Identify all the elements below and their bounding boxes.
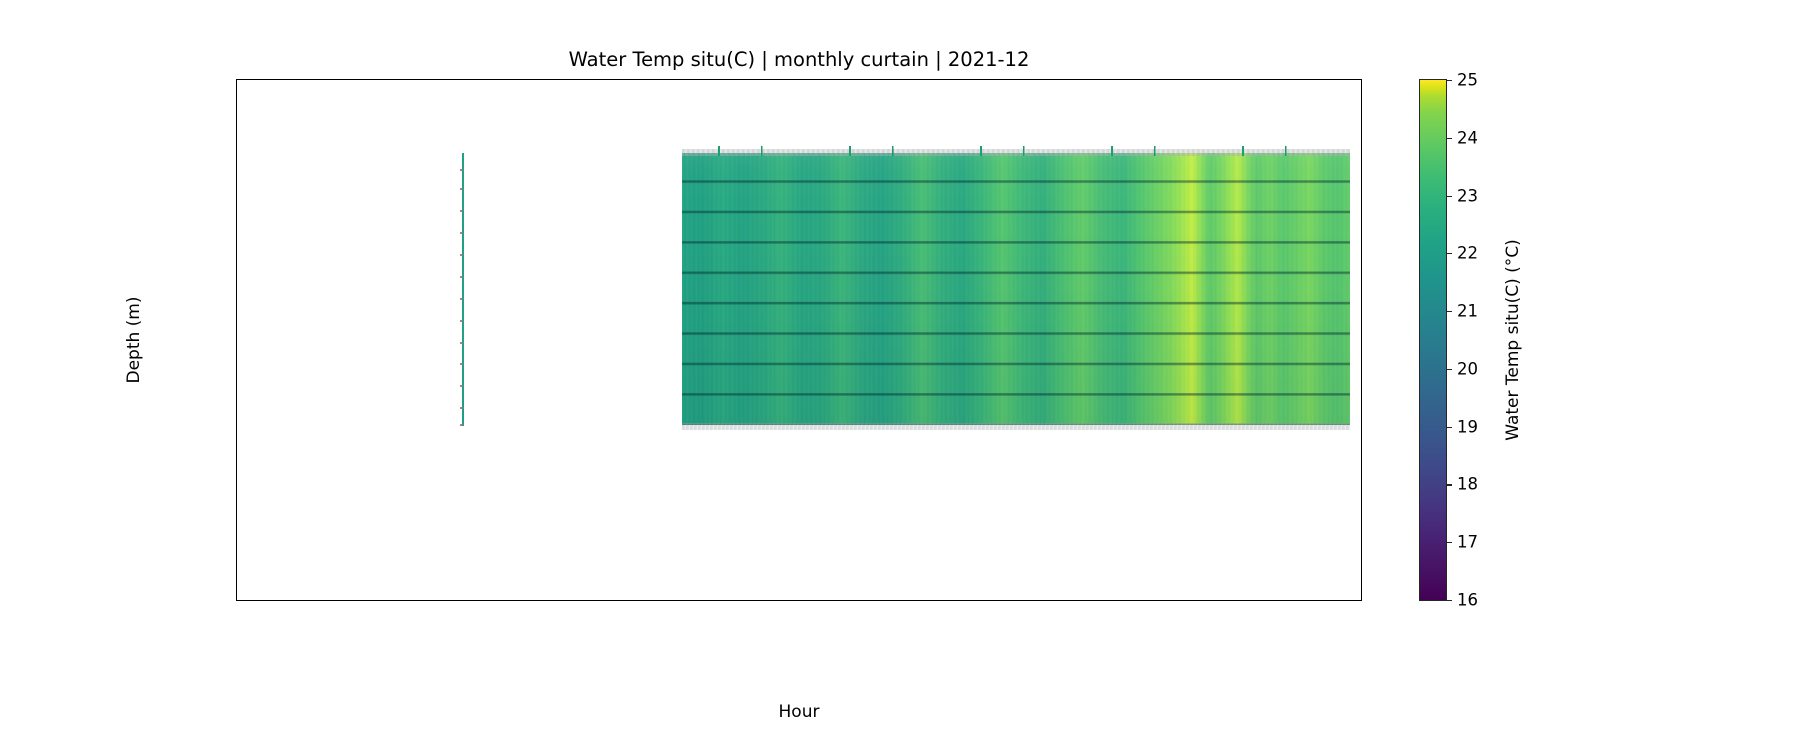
temperature-curtain-block bbox=[682, 153, 1350, 425]
colorbar-tick-label: 18 bbox=[1457, 475, 1478, 494]
page-title: Water Temp situ(C) | monthly curtain | 2… bbox=[236, 48, 1362, 71]
colorbar-tick-label: 21 bbox=[1457, 302, 1478, 321]
sensor-depth-lines bbox=[682, 153, 1350, 425]
surface-spike-marks bbox=[682, 146, 1350, 156]
colorbar-tick-label: 19 bbox=[1457, 417, 1478, 436]
sparse-profile-column bbox=[462, 153, 464, 427]
colorbar-tick-label: 16 bbox=[1457, 591, 1478, 610]
colorbar-tick-label: 25 bbox=[1457, 71, 1478, 90]
colorbar-tick-label: 22 bbox=[1457, 244, 1478, 263]
colorbar-tick-label: 24 bbox=[1457, 128, 1478, 147]
colorbar-label: Water Temp situ(C) (°C) bbox=[1503, 239, 1523, 441]
figure-canvas: Water Temp situ(C) | monthly curtain | 2… bbox=[0, 0, 1800, 750]
x-axis-label: Hour bbox=[236, 702, 1362, 722]
bottom-noise-strip bbox=[682, 423, 1350, 430]
y-axis-label: Depth (m) bbox=[124, 296, 144, 383]
colorbar-gradient bbox=[1420, 80, 1446, 600]
colorbar-tick-label: 17 bbox=[1457, 533, 1478, 552]
colorbar[interactable]: 16 17 18 19 20 21 bbox=[1419, 79, 1447, 601]
plot-stage: Water Temp situ(C) | monthly curtain | 2… bbox=[0, 0, 1800, 750]
colorbar-tick-label: 20 bbox=[1457, 359, 1478, 378]
colorbar-tick-label: 23 bbox=[1457, 186, 1478, 205]
heatmap-axes[interactable]: 0.0 2.5 5.0 7.5 10.0 12.5 bbox=[236, 79, 1362, 601]
